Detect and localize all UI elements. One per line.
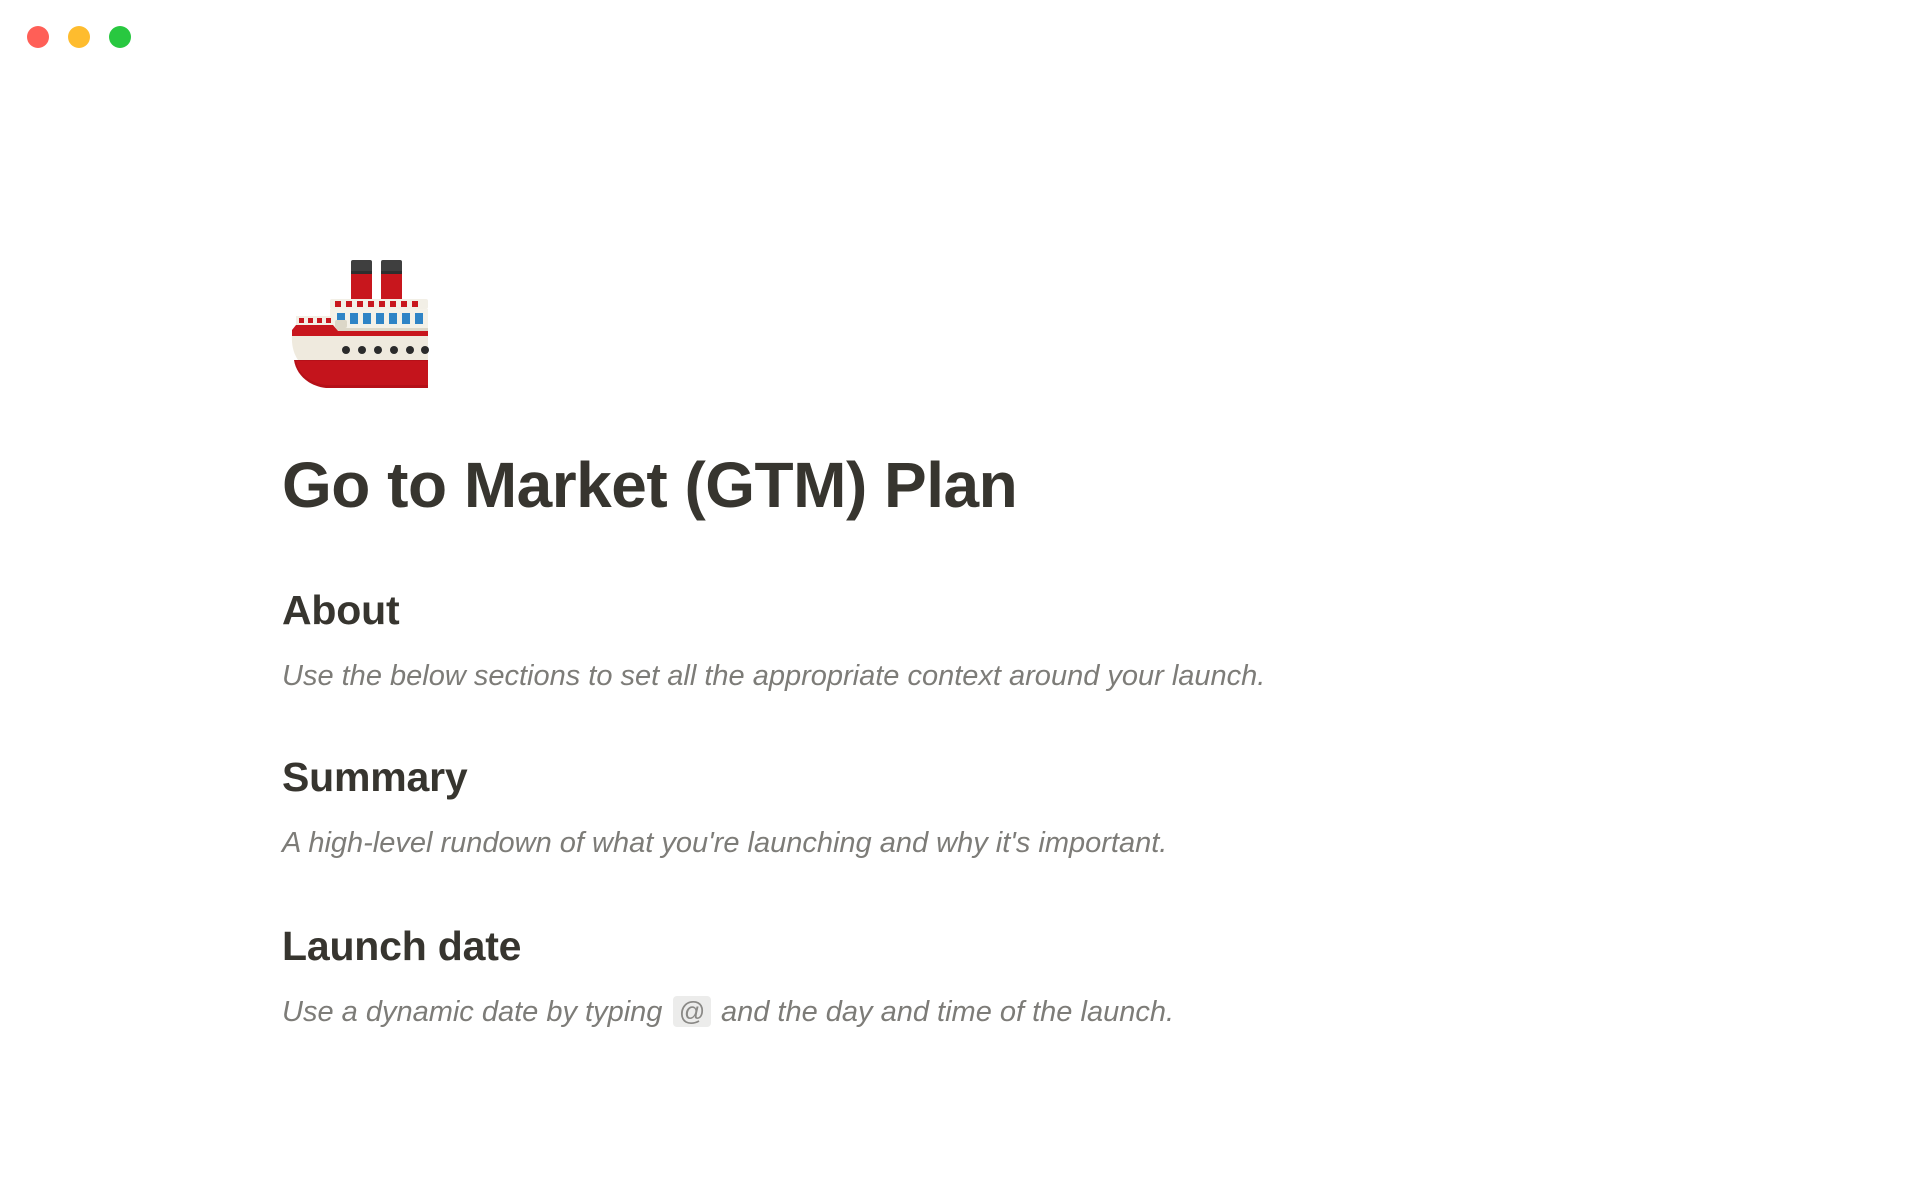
ship-icon[interactable] xyxy=(282,248,434,400)
document-canvas: Go to Market (GTM) Plan About Use the be… xyxy=(0,0,1920,1200)
section-body-summary-text: A high-level rundown of what you're laun… xyxy=(282,827,1167,859)
section-body-about[interactable]: Use the below sections to set all the ap… xyxy=(282,655,1712,697)
inline-code-mention-trigger[interactable]: @ xyxy=(673,996,711,1027)
section-heading-summary[interactable]: Summary xyxy=(282,753,1712,802)
section-summary: Summary A high-level rundown of what you… xyxy=(282,753,1712,864)
section-body-summary[interactable]: A high-level rundown of what you're laun… xyxy=(282,822,1712,864)
page-title[interactable]: Go to Market (GTM) Plan xyxy=(282,452,1712,520)
section-body-launch-date-text-after: and the day and time of the launch. xyxy=(721,996,1174,1028)
section-body-about-text: Use the below sections to set all the ap… xyxy=(282,660,1265,692)
document-content: Go to Market (GTM) Plan About Use the be… xyxy=(282,248,1712,1034)
section-about: About Use the below sections to set all … xyxy=(282,586,1712,697)
section-body-launch-date-text-before: Use a dynamic date by typing xyxy=(282,996,662,1028)
section-heading-about[interactable]: About xyxy=(282,586,1712,635)
section-body-launch-date[interactable]: Use a dynamic date by typing @ and the d… xyxy=(282,991,1712,1033)
section-heading-launch-date[interactable]: Launch date xyxy=(282,922,1712,971)
section-launch-date: Launch date Use a dynamic date by typing… xyxy=(282,922,1712,1033)
